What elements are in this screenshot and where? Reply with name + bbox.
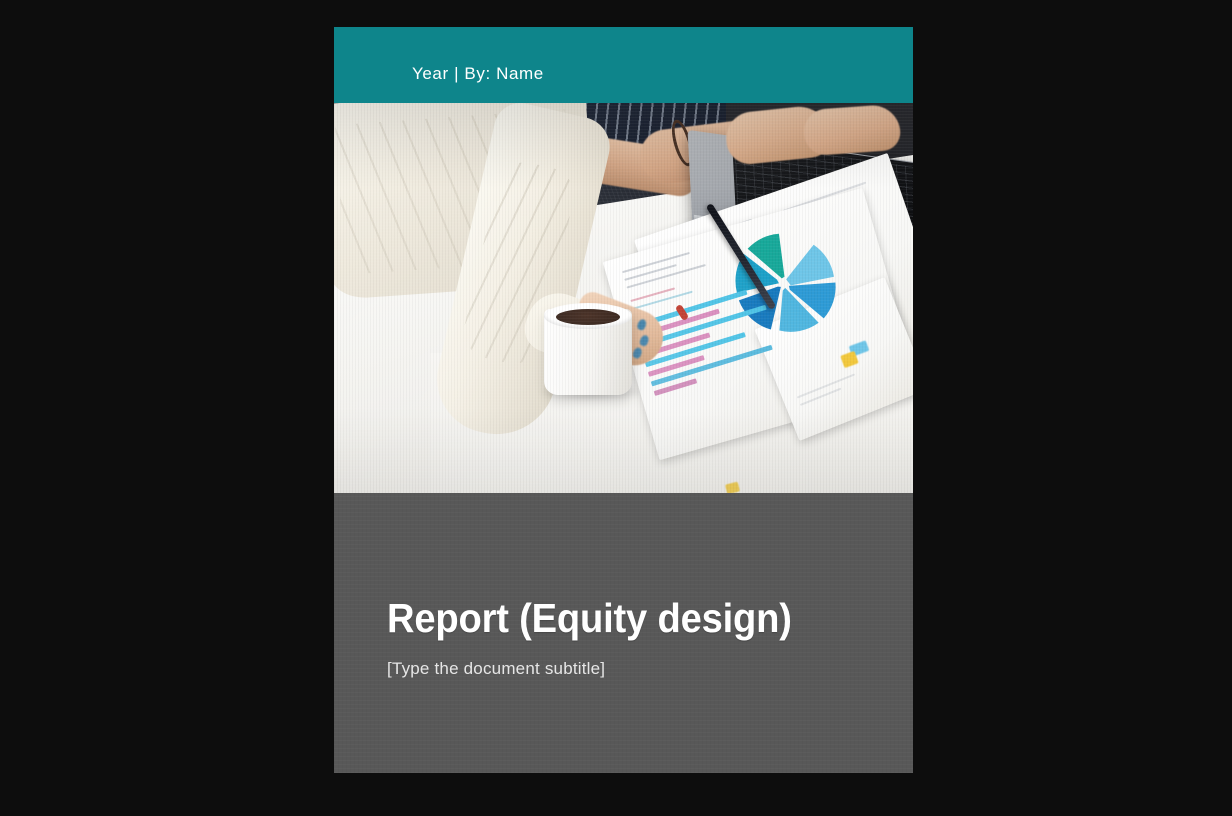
- document-cover-page: Year | By: Name: [334, 27, 913, 773]
- photo-coffee-liquid: [556, 309, 620, 325]
- cover-header-band: Year | By: Name: [334, 27, 913, 103]
- photo-sheet-text-line: [630, 287, 675, 302]
- photo-fingernail: [636, 318, 647, 331]
- photo-sheet-text-line: [624, 264, 676, 281]
- photo-typing-hand-right: [803, 104, 902, 157]
- screenshot-canvas: Year | By: Name: [0, 0, 1232, 816]
- cover-photo: [334, 103, 913, 493]
- cover-byline-text: Year | By: Name: [412, 64, 544, 84]
- cover-title-panel: Report (Equity design) [Type the documen…: [334, 493, 913, 773]
- document-subtitle-placeholder[interactable]: [Type the document subtitle]: [387, 658, 605, 680]
- photo-sheet-text-line: [633, 291, 693, 310]
- photo-sticky-mark-yellow: [725, 482, 740, 493]
- photo-sheet-text-line: [800, 388, 842, 406]
- photo-fingernail: [632, 346, 643, 359]
- document-title: Report (Equity design): [387, 595, 792, 641]
- photo-fingernail: [639, 334, 650, 347]
